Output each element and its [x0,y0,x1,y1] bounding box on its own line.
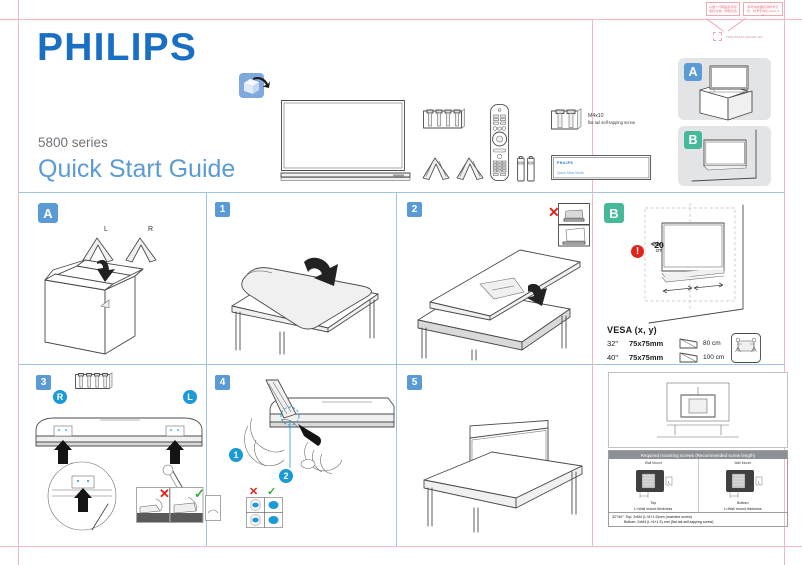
accessory-stand-leg-left [421,158,451,180]
step-1-illustration [222,228,390,356]
screw-column-head: Wall Mount [610,461,697,465]
step-4-reference-card [205,495,221,521]
vesa-distance: 80 cm [703,340,721,347]
vesa-distance: 100 cm [703,354,724,361]
booklet-title: Quick Start Guide [557,171,584,175]
chip-step-2: 2 [407,202,422,217]
tv-distance-icon [679,352,698,363]
clearance-distance-label: 20 cm [648,240,670,254]
screw-requirements-table: Required mounting screws (Recommended sc… [608,450,788,527]
vesa-size: 32" [607,339,624,348]
two-person-lift-icon [731,333,761,363]
unbox-arrow-icon [239,73,270,104]
accessory-batteries [517,156,539,182]
step-5-illustration [412,400,588,532]
page-title: Quick Start Guide [38,155,235,184]
guide-line-mid [18,364,784,365]
guide-line-col-2 [396,192,397,546]
guide-line-header-split [18,192,784,193]
guide-line-top [0,19,802,20]
badge-stand-right: R [53,390,67,404]
booklet-brand: PHILIPS [557,161,573,165]
screw-column-foot: Bottom [700,501,787,505]
series-label: 5800 series [38,135,108,150]
step-2-illustration [410,240,586,360]
step-4-sub-badge-2: 2 [279,469,293,483]
accessory-booklet [551,155,653,181]
mount-option-a-panel[interactable]: A [678,58,771,120]
accessory-stand-screws [423,108,465,130]
vesa-dimensions: 75x75mm [629,339,674,348]
accessory-wall-mount-screws [551,108,583,132]
mount-option-b-panel[interactable]: B [678,126,771,186]
screw-column-head: Wall Mount [700,461,787,465]
step-4-illustration [222,380,394,500]
chip-step-5: 5 [407,375,422,390]
chip-option-b: B [684,131,702,149]
wall-screw-type-label: flat tail self-tapping screw [588,120,648,125]
accessory-stand-leg-right [455,158,485,180]
clearance-unit: cm [648,248,670,254]
svg-text:L: L [668,480,671,485]
chip-step-1: 1 [215,202,230,217]
philips-logo: PHILIPS [37,26,197,70]
accessory-remote-control [490,104,514,182]
chip-step-a: A [38,203,58,223]
chip-step-3: 3 [36,375,51,390]
guide-line-col-3 [592,19,593,546]
screw-column-foot: Top [610,501,697,505]
step-3-screw-pack [75,372,113,390]
step-a-illustration [35,236,195,356]
note-leader-right [728,18,746,31]
screw-table-column: Wall Mount L Top L=Wall mount thickness [609,459,698,512]
guide-line-bottom [0,546,802,547]
guide-line-top-mark-right [784,19,802,20]
step-2-cross-icon: ✕ [548,205,560,219]
screw-column-note: L=Wall mount thickness [700,507,787,511]
print-note-left: 以各个印刷品的实际色标为准，两侧位置 [706,2,740,16]
screw-table-column: Wall Mount L Bottom L=Wall mount thickne… [698,459,788,512]
step-b-illustration [637,203,787,328]
svg-text:L: L [758,480,761,485]
vesa-size: 40" [607,353,624,362]
code-placeholder-text: TPM-XXXXX-QSGPL-EN [726,35,763,39]
screw-table-title: Required mounting screws (Recommended sc… [609,451,787,459]
step-3-check-icon: ✓ [194,487,205,500]
chip-step-b: B [604,203,624,223]
guide-line-left [18,0,19,565]
screw-footnote: Bottom: 2xM4 (L+6+1.5) mm (flat tail sel… [612,520,784,525]
vesa-dimensions: 75x75mm [629,353,674,362]
guide-line-top-mark-left [0,19,18,20]
step-4-check-icon: ✓ [267,487,276,498]
chip-option-a: A [684,63,702,81]
stand-leg-label-left: L [104,226,108,233]
quick-start-guide-page: PHILIPS 5800 series Quick Start Guide [0,0,802,565]
wall-screw-size-label: M4x10 [588,113,604,120]
screw-column-note: L=Wall mount thickness [610,507,697,511]
wall-mount-detail-panel [608,372,788,448]
tv-illustration [281,100,411,185]
stand-leg-label-right: R [148,226,153,233]
clearance-warning-icon: ! [631,245,644,258]
print-note-right: 料号请依据实际料号打印，料号字体为 Arial, 6 pt [743,2,783,16]
step-4-screw-grid [246,497,284,529]
code-placeholder-box [713,32,722,41]
tv-distance-icon [679,338,698,349]
step-4-sub-badge-1: 1 [229,448,243,462]
note-leader-left [706,18,724,31]
badge-stand-left: L [183,390,197,404]
step-3-cross-icon: ✕ [159,487,170,500]
step-4-cross-icon: ✕ [249,487,258,498]
